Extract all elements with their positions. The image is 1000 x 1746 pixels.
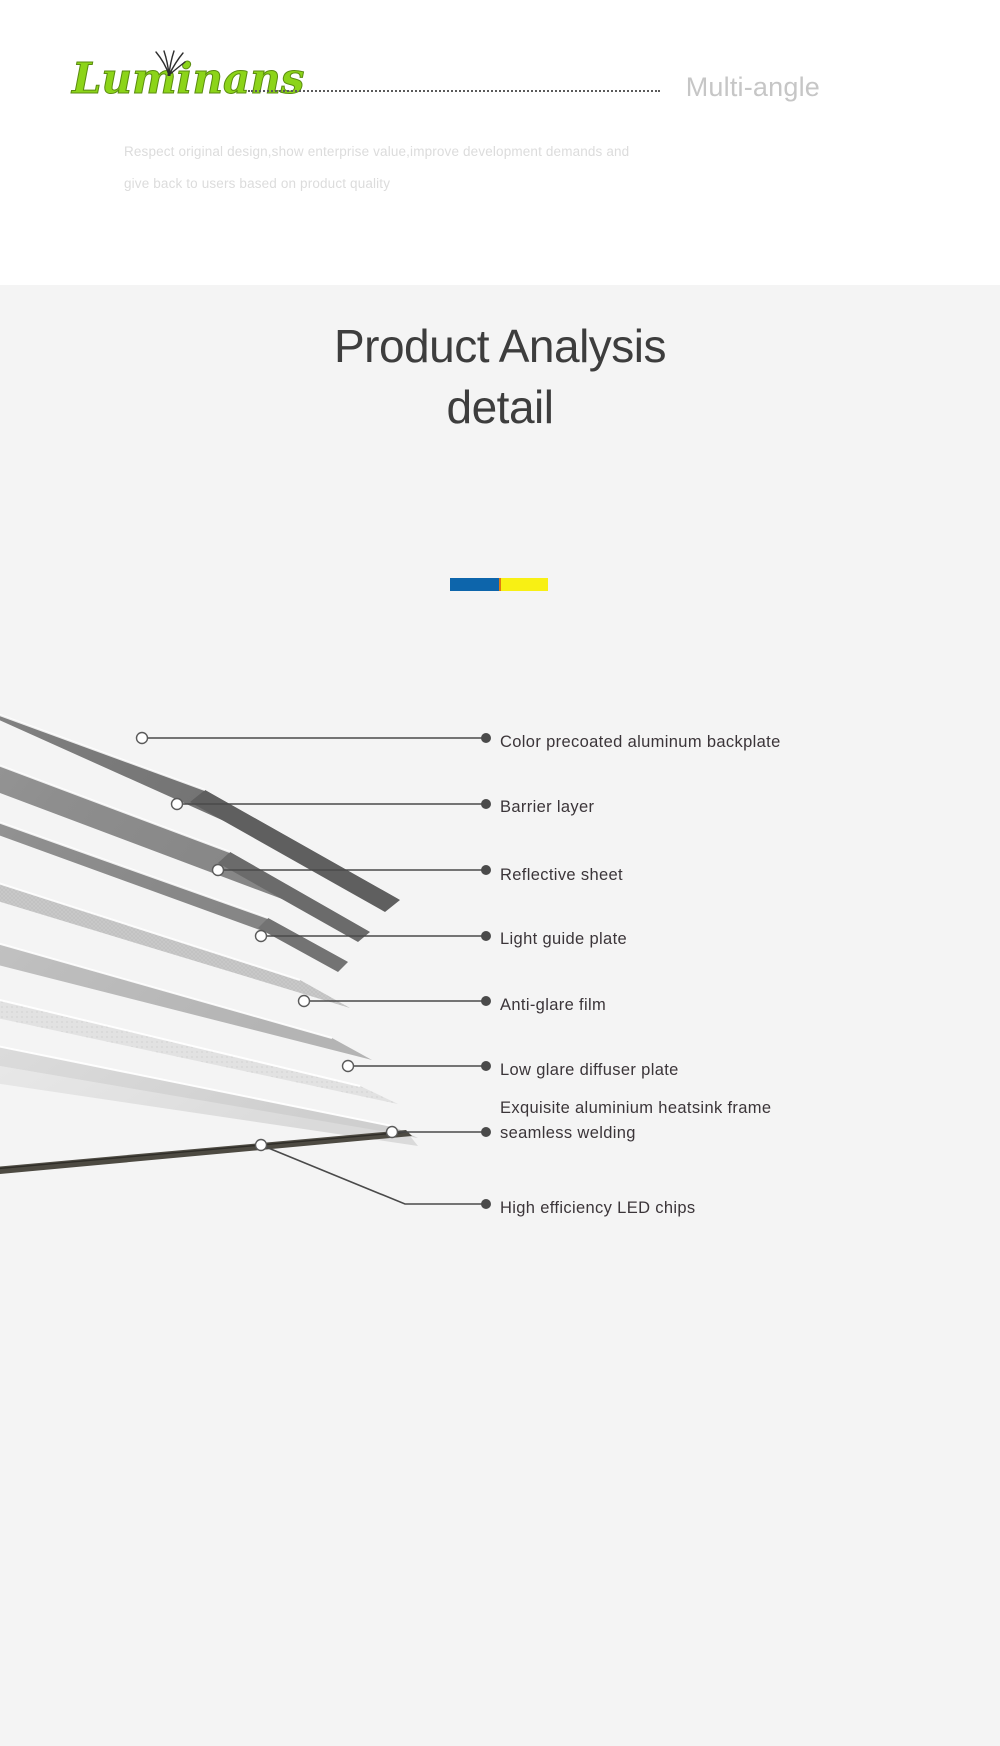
header-subtitle: Respect original design,show enterprise … [124,136,764,200]
callout-label-barrier: Barrier layer [500,795,594,820]
header-subtitle-line-2: give back to users based on product qual… [124,168,764,200]
brand-logo-text: Luminans [72,54,304,103]
accent-divider-bar [450,578,548,591]
accent-segment-blue [450,578,499,591]
callout-label-reflective: Reflective sheet [500,863,623,888]
callout-label-heatsink: Exquisite aluminium heatsink frame seaml… [500,1096,771,1146]
callout-label-antiglare: Anti-glare film [500,993,606,1018]
callout-label-backplate: Color precoated aluminum backplate [500,730,781,755]
page-title-line-1: Product Analysis [0,316,1000,377]
section-title: Product Analysis detail [0,316,1000,438]
brand-logo[interactable]: Luminans [72,58,304,100]
callout-label-lightguide: Light guide plate [500,927,627,952]
callout-label-ledchips: High efficiency LED chips [500,1196,696,1221]
callout-label-diffuser: Low glare diffuser plate [500,1058,679,1083]
grass-sprout-icon [152,50,186,76]
header-subtitle-line-1: Respect original design,show enterprise … [124,136,764,168]
page-header: Luminans Multi-angle Respect original de… [0,0,1000,285]
callout-labels: Color precoated aluminum backplate Barri… [0,620,1000,1240]
page-title-line-2: detail [0,377,1000,438]
header-dotted-divider [248,90,660,92]
accent-segment-yellow [501,578,548,591]
header-tagline: Multi-angle [686,72,820,103]
